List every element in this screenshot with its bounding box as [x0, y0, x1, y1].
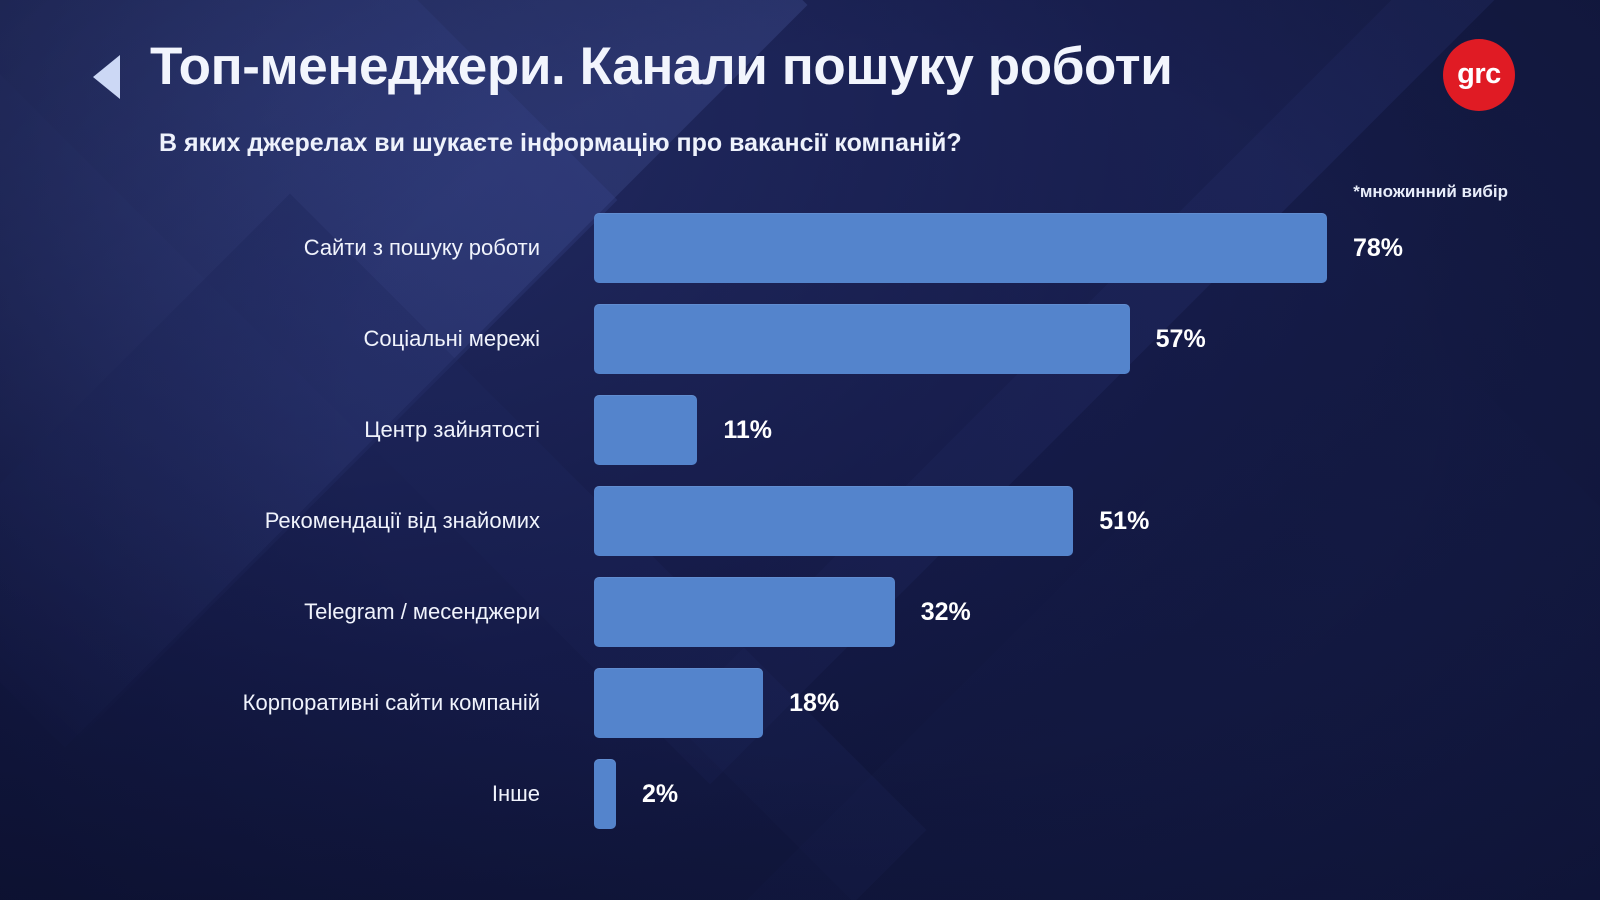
chart-row: Корпоративні сайти компаній18%: [0, 668, 1600, 738]
chart-row: Сайти з пошуку роботи78%: [0, 213, 1600, 283]
bar-track: 78%: [594, 213, 1534, 283]
bar-track: 57%: [594, 304, 1534, 374]
bar[interactable]: [594, 213, 1327, 283]
bar[interactable]: [594, 759, 616, 829]
bar-value-label: 32%: [921, 577, 971, 647]
bar-value-label: 57%: [1156, 304, 1206, 374]
bar[interactable]: [594, 668, 763, 738]
category-label: Корпоративні сайти компаній: [0, 668, 540, 738]
bar[interactable]: [594, 304, 1130, 374]
category-label: Центр зайнятості: [0, 395, 540, 465]
bar-track: 51%: [594, 486, 1534, 556]
page-subtitle: В яких джерелах ви шукаєте інформацію пр…: [159, 129, 962, 158]
bar-value-label: 11%: [723, 395, 772, 465]
multiple-choice-note: *множинний вибір: [1353, 182, 1508, 202]
bar-value-label: 2%: [642, 759, 678, 829]
category-label: Соціальні мережі: [0, 304, 540, 374]
chart-row: Центр зайнятості11%: [0, 395, 1600, 465]
logo-text: grc: [1457, 60, 1501, 91]
chart-row: Telegram / месенджери32%: [0, 577, 1600, 647]
bar-track: 18%: [594, 668, 1534, 738]
bar-track: 11%: [594, 395, 1534, 465]
bar-value-label: 51%: [1099, 486, 1149, 556]
bar-track: 2%: [594, 759, 1534, 829]
bar-value-label: 78%: [1353, 213, 1403, 283]
slide-root: Топ-менеджери. Канали пошуку роботи В як…: [0, 0, 1600, 900]
category-label: Інше: [0, 759, 540, 829]
category-label: Рекомендації від знайомих: [0, 486, 540, 556]
chart-row: Інше2%: [0, 759, 1600, 829]
back-triangle-icon[interactable]: [93, 55, 120, 99]
category-label: Telegram / месенджери: [0, 577, 540, 647]
slide-header: Топ-менеджери. Канали пошуку роботи В як…: [0, 0, 1600, 175]
bar[interactable]: [594, 395, 697, 465]
bar[interactable]: [594, 486, 1073, 556]
chart-row: Рекомендації від знайомих51%: [0, 486, 1600, 556]
bar-track: 32%: [594, 577, 1534, 647]
grc-logo: grc: [1443, 39, 1515, 111]
bar[interactable]: [594, 577, 895, 647]
page-title: Топ-менеджери. Канали пошуку роботи: [150, 36, 1172, 97]
category-label: Сайти з пошуку роботи: [0, 213, 540, 283]
bar-chart: Сайти з пошуку роботи78%Соціальні мережі…: [0, 213, 1600, 873]
chart-row: Соціальні мережі57%: [0, 304, 1600, 374]
bar-value-label: 18%: [789, 668, 839, 738]
